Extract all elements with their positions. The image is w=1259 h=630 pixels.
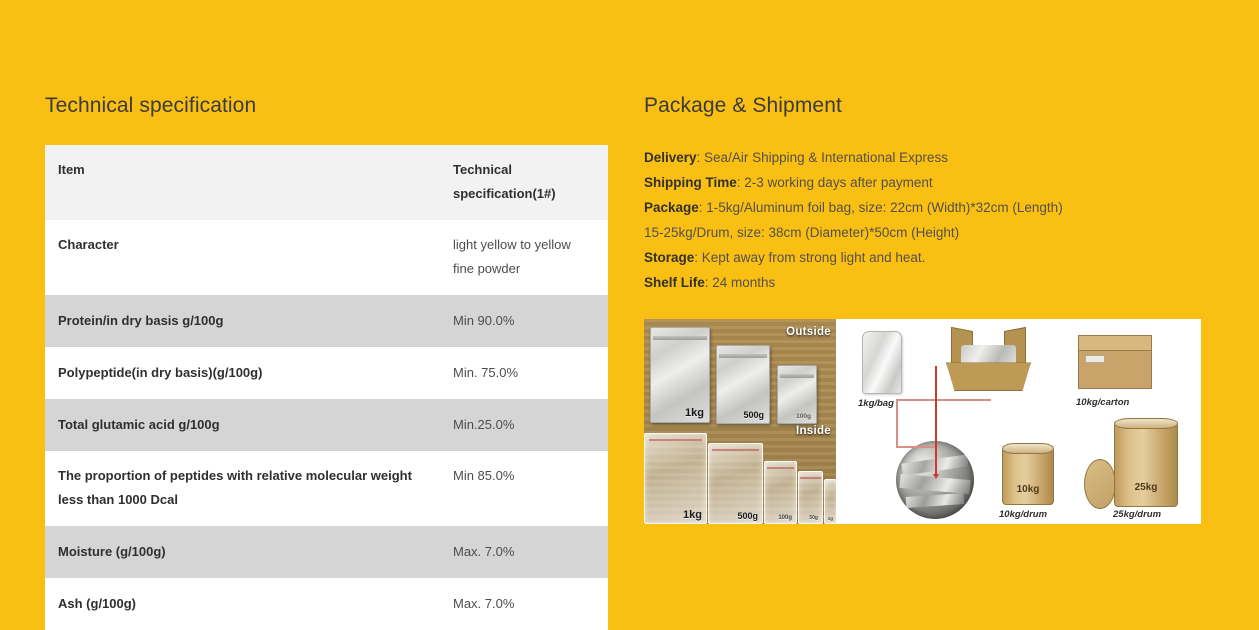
page-root: Technical specification Item Technical s… (0, 0, 1259, 581)
bag-size-label: 100g (778, 515, 792, 521)
seal-line (767, 467, 794, 469)
foil-bag-1kg: 1kg (650, 327, 710, 423)
shipment-value: : 2-3 working days after payment (737, 175, 933, 190)
technical-specification-table: Item Technical specification(1#) Charact… (45, 145, 608, 630)
page-title-package-shipment: Package & Shipment (644, 92, 1204, 120)
table-row: Moisture (g/100g) Max. 7.0% (45, 526, 608, 578)
cell-value: light yellow to yellow fine powder (449, 220, 608, 295)
cell-value: Max. 7.0% (449, 526, 608, 578)
bag-size-label: 1kg (683, 509, 702, 521)
connector-line-lower (896, 446, 936, 448)
photo-label-inside: Inside (796, 425, 831, 437)
caption-10kg-drum: 10kg/drum (999, 509, 1047, 520)
caption-1kg-bag: 1kg/bag (858, 398, 894, 409)
package-images-panel: 1kg 500g 100g Outside 1kg 500g 100g (644, 319, 1201, 524)
caption-25kg-drum: 25kg/drum (1113, 509, 1161, 520)
bag-size-label: 1kg (685, 407, 704, 419)
drum-25kg-graphic: 25kg (1114, 422, 1178, 507)
bag-size-label: 1g (828, 516, 833, 521)
foil-shard (906, 493, 965, 508)
shipment-label: Shelf Life (644, 275, 705, 290)
drum-lid-graphic (1084, 459, 1116, 509)
clear-bag-1kg: 1kg (644, 433, 707, 524)
cell-value: Max. 7.0% (449, 578, 608, 630)
shipment-detail-package-drum: 15-25kg/Drum, size: 38cm (Diameter)*50cm… (644, 220, 1204, 245)
table-row: The proportion of peptides with relative… (45, 451, 608, 526)
shipment-value: 15-25kg/Drum, size: 38cm (Diameter)*50cm… (644, 225, 959, 240)
shipment-detail-storage: Storage: Kept away from strong light and… (644, 245, 1204, 270)
shipment-detail-shelf-life: Shelf Life: 24 months (644, 270, 1204, 295)
shipment-value: : Sea/Air Shipping & International Expre… (697, 150, 948, 165)
seal-line (649, 439, 703, 441)
connector-arrow-shaft (935, 366, 937, 474)
drum-weight-label: 25kg (1115, 482, 1177, 493)
drum-weight-label: 10kg (1003, 484, 1053, 495)
packaging-shipment-diagram: 1kg/bag 10kg/carton (836, 319, 1201, 524)
clear-bag-500g: 500g (708, 443, 763, 524)
caption-10kg-carton: 10kg/carton (1076, 397, 1129, 408)
cell-value: Min.25.0% (449, 399, 608, 451)
cell-item: Polypeptide(in dry basis)(g/100g) (45, 347, 449, 399)
closed-carton-graphic (1078, 335, 1152, 389)
connector-arrow-head (933, 474, 939, 479)
shipment-detail-package: Package: 1-5kg/Aluminum foil bag, size: … (644, 195, 1204, 220)
shipment-label: Package (644, 200, 699, 215)
column-header-item: Item (45, 145, 449, 220)
table-row: Character light yellow to yellow fine po… (45, 220, 608, 295)
cell-item: Moisture (g/100g) (45, 526, 449, 578)
carton-lid (1079, 336, 1151, 351)
drum-rim (1002, 443, 1054, 454)
table-body: Character light yellow to yellow fine po… (45, 220, 608, 630)
connector-line-horizontal (896, 399, 991, 401)
drum-rim (1114, 418, 1178, 429)
cell-value: Min 90.0% (449, 295, 608, 347)
bag-size-label: 500g (743, 410, 764, 420)
cell-item: Protein/in dry basis g/100g (45, 295, 449, 347)
cell-item: Ash (g/100g) (45, 578, 449, 630)
shipment-value: : Kept away from strong light and heat. (694, 250, 925, 265)
open-carton-graphic (946, 329, 1031, 391)
drum-10kg-graphic: 10kg (1002, 447, 1054, 505)
shipment-label: Shipping Time (644, 175, 737, 190)
cell-value: Min 85.0% (449, 451, 608, 526)
table-header-row: Item Technical specification(1#) (45, 145, 608, 220)
shipment-value: : 1-5kg/Aluminum foil bag, size: 22cm (W… (699, 200, 1063, 215)
seal-line (712, 449, 759, 451)
zip-seal (653, 336, 706, 340)
foil-bag-500g: 500g (716, 345, 770, 424)
column-header-technical-specification: Technical specification(1#) (449, 145, 608, 220)
bag-size-label: 50g (809, 515, 818, 521)
bag-size-label: 500g (737, 511, 758, 521)
clear-bag-100g: 100g (764, 461, 797, 524)
shipment-detail-shipping-time: Shipping Time: 2-3 working days after pa… (644, 170, 1204, 195)
connector-line-vertical (896, 399, 898, 447)
seal-line (800, 477, 820, 479)
zip-seal (719, 354, 767, 358)
cell-item: The proportion of peptides with relative… (45, 451, 449, 526)
shipment-value: : 24 months (705, 275, 776, 290)
table-row: Total glutamic acid g/100g Min.25.0% (45, 399, 608, 451)
shipment-label: Storage (644, 250, 694, 265)
carton-sticker (1085, 355, 1105, 363)
zip-seal (780, 374, 815, 378)
cell-item: Total glutamic acid g/100g (45, 399, 449, 451)
table-header: Item Technical specification(1#) (45, 145, 608, 220)
cell-value: Min. 75.0% (449, 347, 608, 399)
photo-label-outside: Outside (786, 326, 831, 338)
technical-specification-section: Technical specification Item Technical s… (45, 92, 608, 630)
carton-front (946, 362, 1031, 391)
package-shipment-section: Package & Shipment Delivery: Sea/Air Shi… (644, 92, 1204, 295)
table-row: Polypeptide(in dry basis)(g/100g) Min. 7… (45, 347, 608, 399)
clear-bag-1g: 1g (824, 479, 836, 524)
page-title-technical-specification: Technical specification (45, 92, 608, 120)
shipment-details-list: Delivery: Sea/Air Shipping & Internation… (644, 145, 1204, 295)
foil-bag-100g: 100g (777, 365, 817, 424)
shipment-label: Delivery (644, 150, 697, 165)
table-row: Protein/in dry basis g/100g Min 90.0% (45, 295, 608, 347)
cell-item: Character (45, 220, 449, 295)
stand-up-bag-graphic (862, 331, 902, 394)
clear-bag-50g: 50g (798, 471, 823, 524)
bag-size-label: 100g (796, 413, 811, 420)
table-row: Ash (g/100g) Max. 7.0% (45, 578, 608, 630)
aluminum-foil-bag-photo: 1kg 500g 100g Outside 1kg 500g 100g (644, 319, 836, 524)
shipment-detail-delivery: Delivery: Sea/Air Shipping & Internation… (644, 145, 1204, 170)
